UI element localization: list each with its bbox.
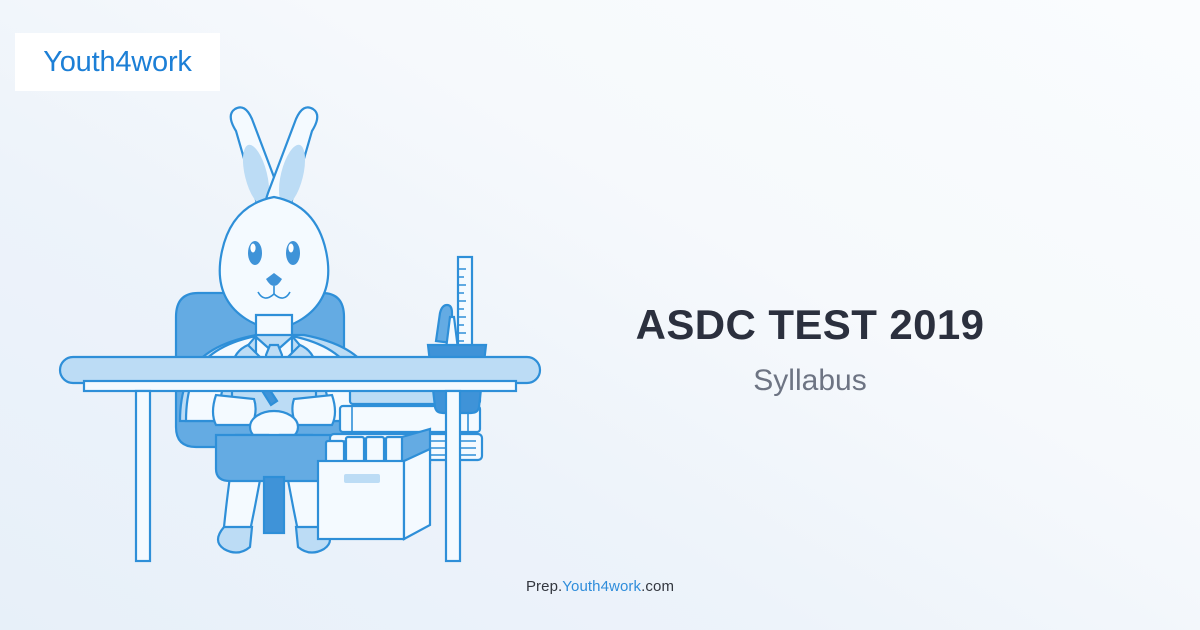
rabbit-eye-left: [248, 241, 262, 265]
brand-logo[interactable]: Youth4work: [15, 33, 220, 91]
footer-url[interactable]: Prep.Youth4work.com: [0, 578, 1200, 595]
hero-illustration: .ol { stroke:#2e8fd8; stroke-width:2.2; …: [50, 105, 560, 570]
desk-leg-right: [446, 391, 460, 561]
shoe-left: [218, 527, 252, 553]
file-box-side: [404, 449, 430, 539]
desk-apron: [84, 381, 516, 391]
rabbit-head: [220, 197, 329, 328]
footer-url-suffix: .com: [641, 578, 674, 595]
rabbit-eye-right: [286, 241, 300, 265]
file-box-front: [318, 461, 404, 539]
page-title: ASDC TEST 2019: [600, 300, 1020, 350]
desk-leg-left: [136, 391, 150, 561]
file-box-label: [344, 474, 380, 483]
file-box: [318, 429, 430, 539]
promo-banner: Youth4work .ol { stroke:#2e8fd8; stroke-…: [0, 0, 1200, 630]
footer-url-prefix: Prep.: [526, 578, 562, 595]
footer-url-brand: Youth4work: [562, 578, 641, 595]
brand-logo-text: Youth4work: [43, 46, 191, 79]
page-subtitle: Syllabus: [600, 364, 1020, 397]
desk-top: [60, 357, 540, 383]
heading-block: ASDC TEST 2019 Syllabus: [600, 300, 1020, 397]
